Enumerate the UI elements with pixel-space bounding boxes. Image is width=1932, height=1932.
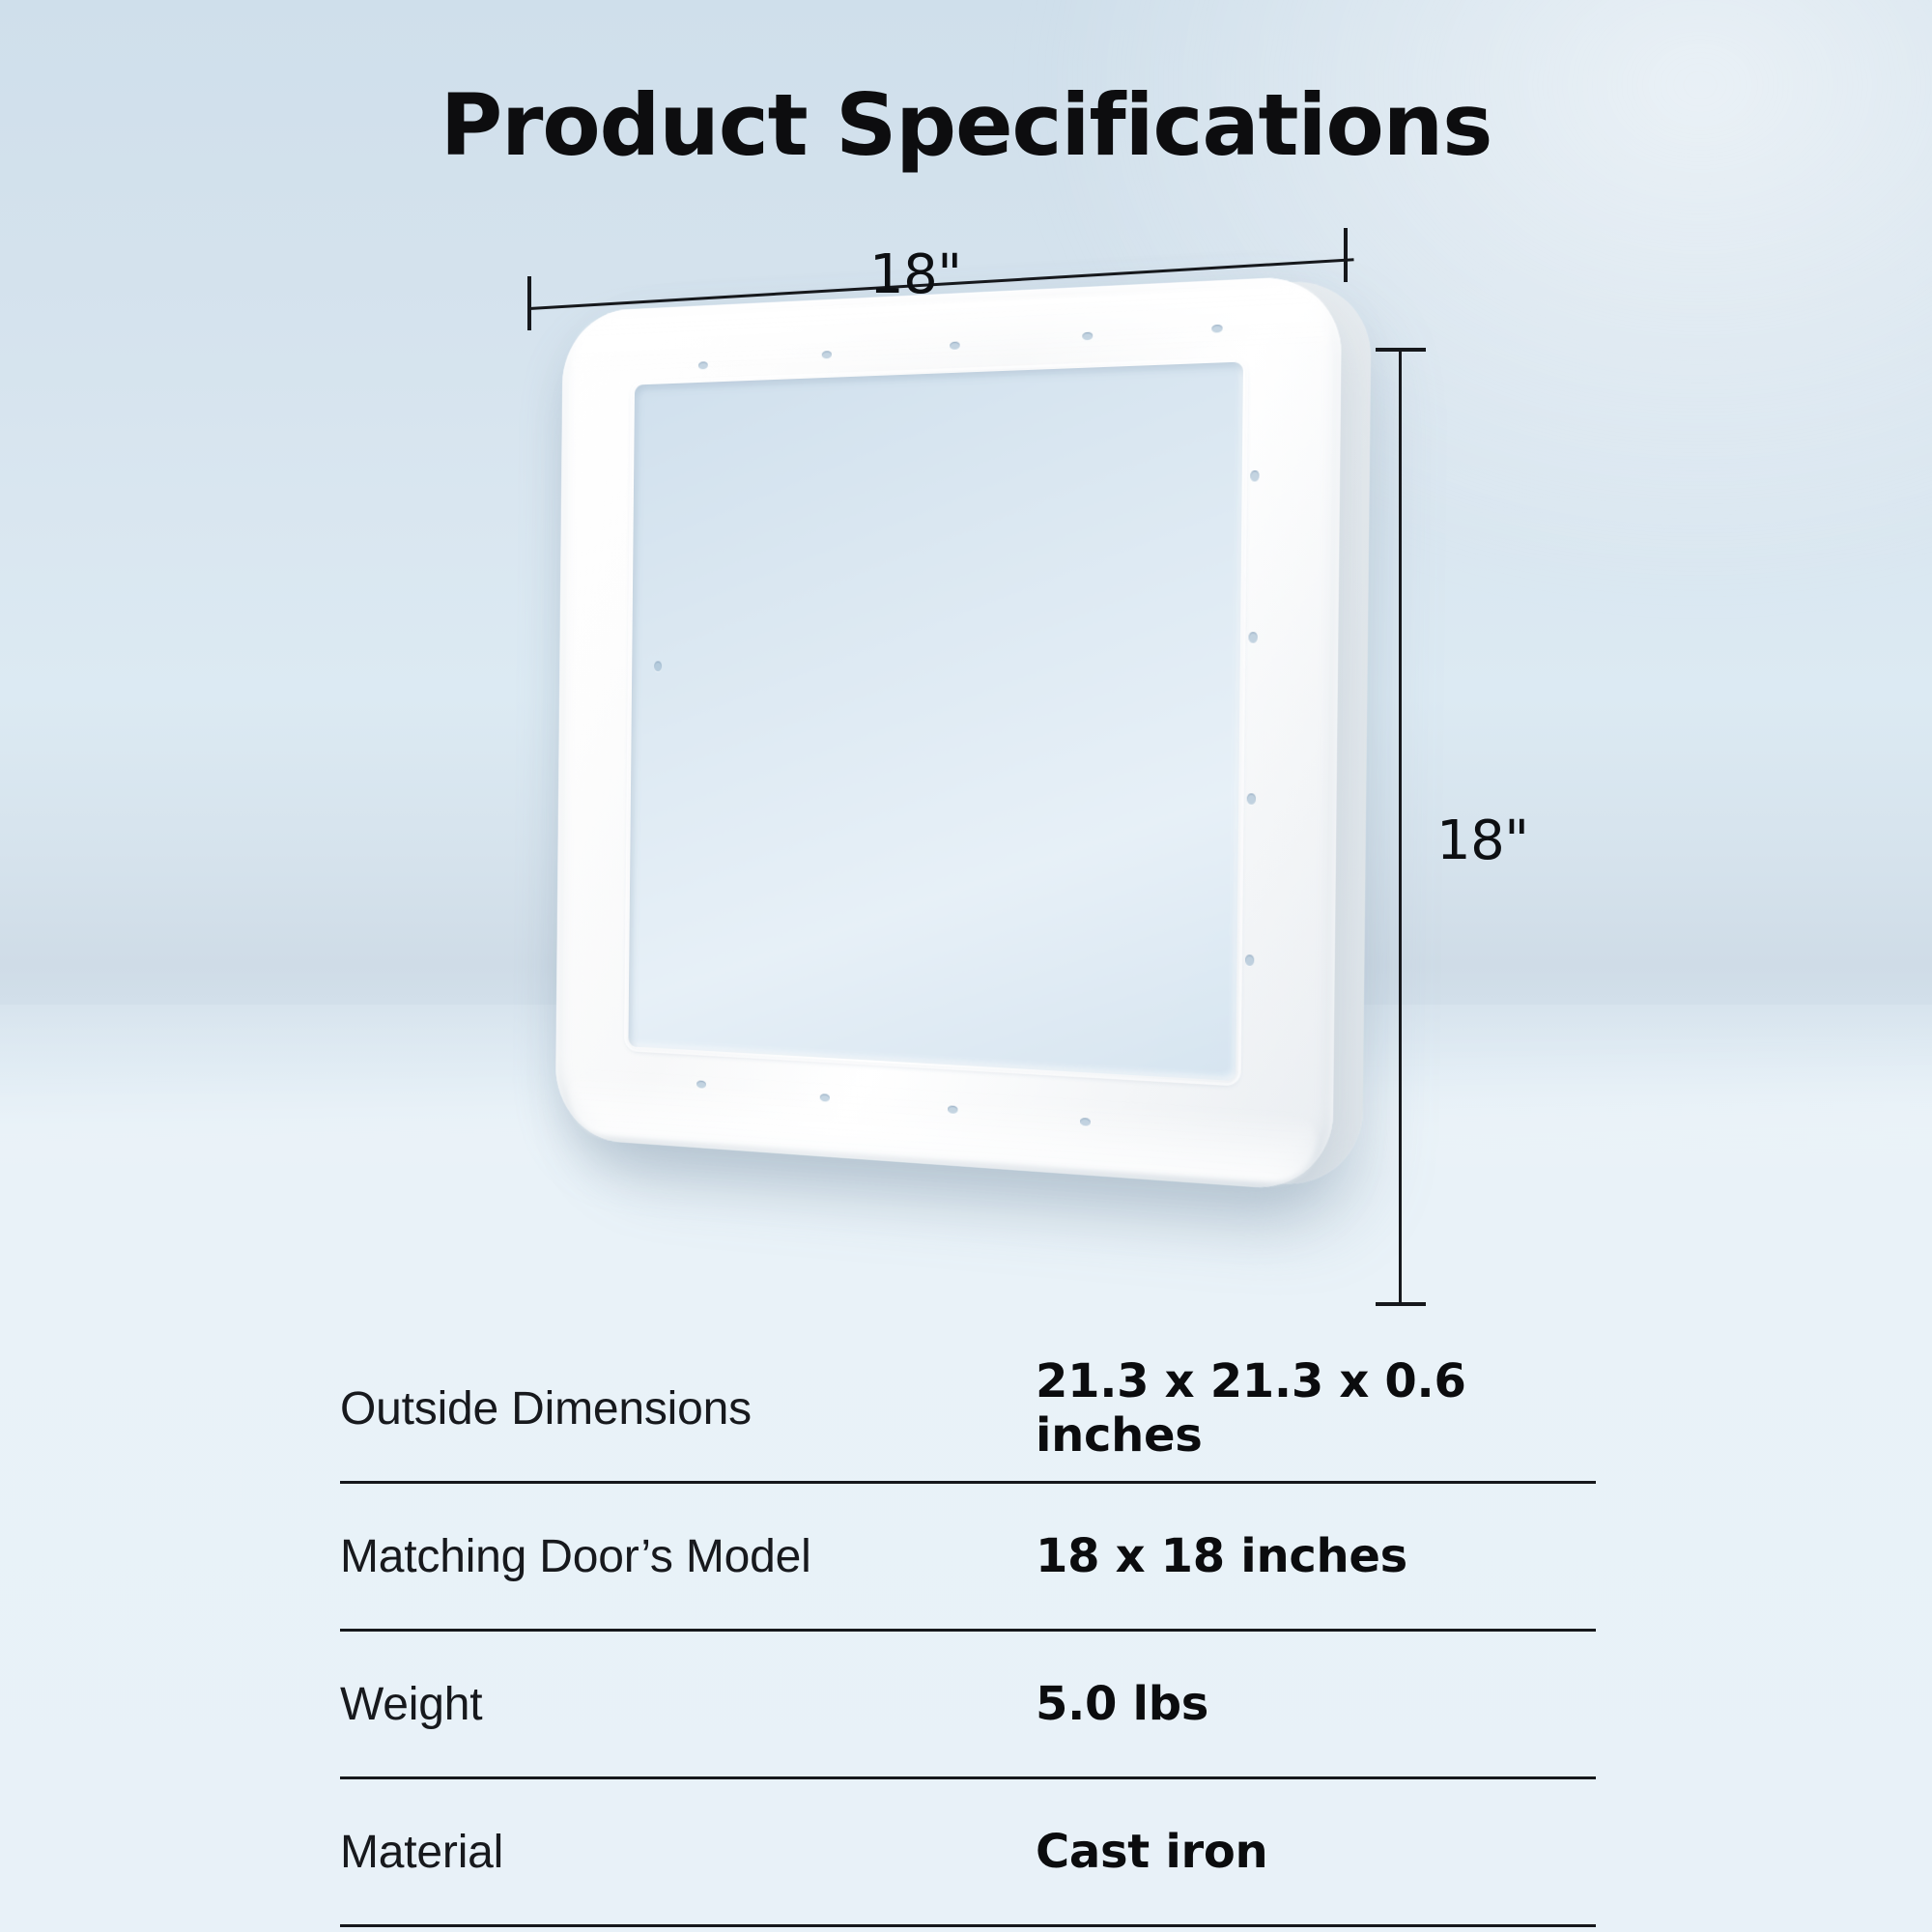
- dimension-tick-left: [527, 276, 531, 330]
- spec-label: Matching Door’s Model: [340, 1530, 1036, 1583]
- table-row: Outside Dimensions 21.3 x 21.3 x 0.6 inc…: [340, 1336, 1596, 1484]
- spec-value: Cast iron: [1036, 1825, 1596, 1879]
- dimension-label-height: 18": [1436, 810, 1529, 872]
- spec-value: 18 x 18 inches: [1036, 1529, 1596, 1583]
- product-vent-frame: [555, 274, 1343, 1193]
- spec-label: Material: [340, 1826, 1036, 1879]
- dimension-label-width: 18": [869, 243, 962, 306]
- spec-value: 5.0 lbs: [1036, 1677, 1596, 1731]
- dimension-line-height: [1399, 348, 1402, 1306]
- specifications-table: Outside Dimensions 21.3 x 21.3 x 0.6 inc…: [340, 1336, 1596, 1927]
- product-spec-page: Product Specifications: [0, 0, 1932, 1932]
- frame-opening-edge: [627, 359, 1246, 1083]
- table-row: Weight 5.0 lbs: [340, 1632, 1596, 1779]
- dimension-tick-right: [1344, 228, 1348, 282]
- table-row: Material Cast iron: [340, 1779, 1596, 1927]
- spec-label: Outside Dimensions: [340, 1382, 1036, 1435]
- spec-value: 21.3 x 21.3 x 0.6 inches: [1036, 1354, 1596, 1463]
- page-title: Product Specifications: [0, 75, 1932, 175]
- spec-label: Weight: [340, 1678, 1036, 1731]
- table-row: Matching Door’s Model 18 x 18 inches: [340, 1484, 1596, 1632]
- product-hero: [0, 184, 1932, 1034]
